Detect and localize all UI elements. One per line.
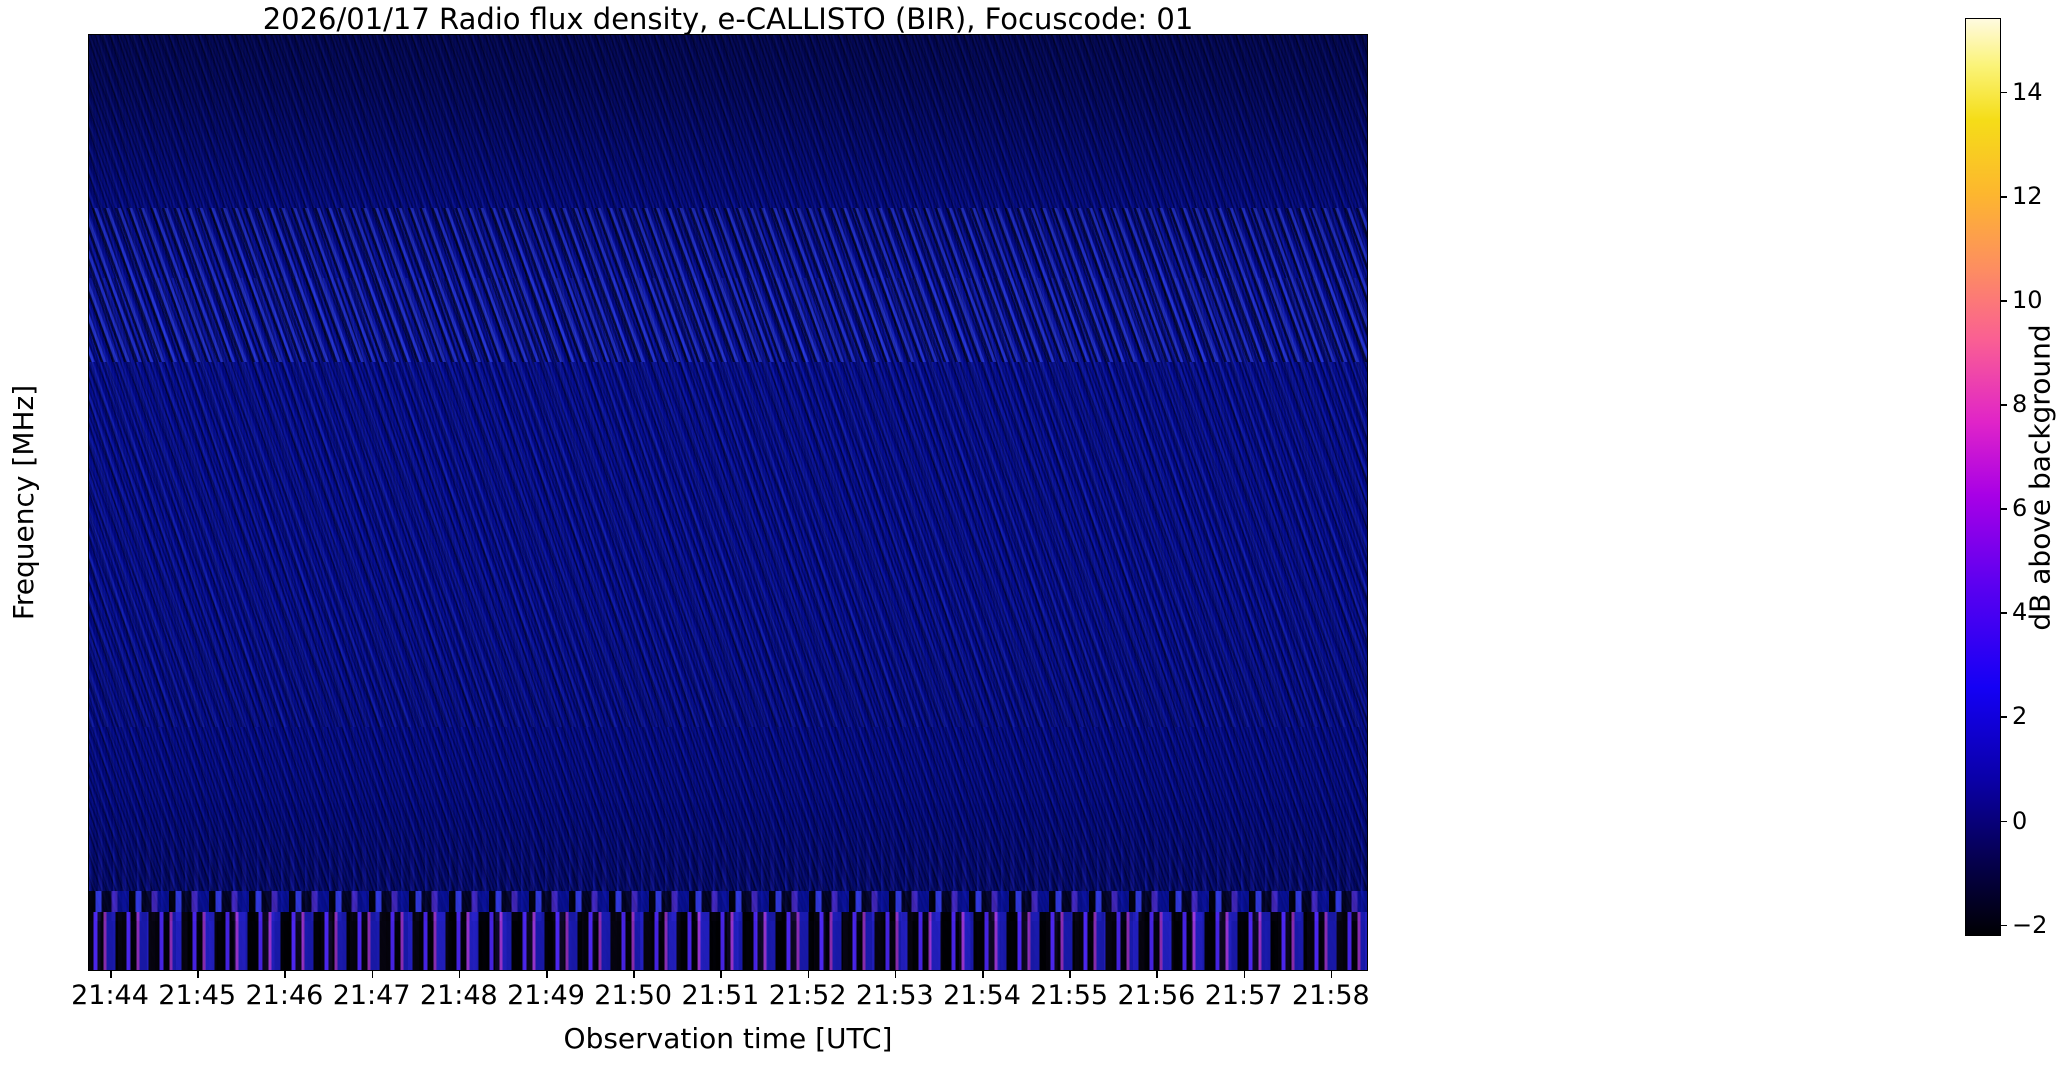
x-tick-label: 21:46 [245, 982, 323, 1009]
x-tick-label: 21:58 [1292, 982, 1370, 1009]
x-tick-mark [110, 971, 112, 978]
x-axis-ticks: 21:4421:4521:4621:4721:4821:4921:5021:51… [88, 971, 1368, 1017]
x-tick-mark [372, 971, 374, 978]
colorbar-label-text: dB above background [2024, 324, 2057, 630]
x-tick-mark [1244, 971, 1246, 978]
colorbar-tick-mark [2000, 508, 2007, 510]
heatmap-feature-low-frequency-rfi [89, 912, 1367, 970]
x-tick-mark [982, 971, 984, 978]
colorbar-tick-mark [2000, 612, 2007, 614]
x-tick-label: 21:52 [769, 982, 847, 1009]
x-tick-mark [197, 971, 199, 978]
colorbar-tick-mark [2000, 196, 2007, 198]
x-tick-mark [720, 971, 722, 978]
x-tick-mark [284, 971, 286, 978]
x-tick-mark [1331, 971, 1333, 978]
x-tick-mark [808, 971, 810, 978]
colorbar-tick-mark [2000, 716, 2007, 718]
x-tick-label: 21:50 [594, 982, 672, 1009]
x-tick-mark [895, 971, 897, 978]
x-tick-label: 21:51 [681, 982, 759, 1009]
x-tick-mark [546, 971, 548, 978]
x-tick-mark [1156, 971, 1158, 978]
x-tick-label: 21:44 [71, 982, 149, 1009]
chart-title: 2026/01/17 Radio flux density, e-CALLIST… [88, 2, 1368, 36]
y-axis-label-text: Frequency [MHz] [8, 385, 41, 620]
x-tick-label: 21:56 [1117, 982, 1195, 1009]
x-tick-mark [459, 971, 461, 978]
spectrogram-axes: 100 80 60 40 20 [88, 34, 1368, 971]
x-tick-label: 21:55 [1030, 982, 1108, 1009]
x-axis-label: Observation time [UTC] [88, 1022, 1368, 1055]
x-tick-label: 21:45 [158, 982, 236, 1009]
x-tick-mark [1069, 971, 1071, 978]
x-tick-label: 21:57 [1205, 982, 1283, 1009]
colorbar-label: dB above background [2022, 18, 2058, 936]
colorbar-tick-mark [2000, 300, 2007, 302]
colorbar-tick-mark [2000, 925, 2007, 927]
x-tick-label: 21:54 [943, 982, 1021, 1009]
colorbar-tick-mark [2000, 821, 2007, 823]
x-tick-label: 21:47 [333, 982, 411, 1009]
y-axis-label: Frequency [MHz] [6, 34, 42, 971]
x-tick-label: 21:48 [420, 982, 498, 1009]
colorbar-tick-mark [2000, 92, 2007, 94]
x-tick-label: 21:53 [856, 982, 934, 1009]
x-tick-label: 21:49 [507, 982, 585, 1009]
colorbar: −202468101214 [1965, 18, 2001, 936]
figure-canvas: 2026/01/17 Radio flux density, e-CALLIST… [0, 0, 2066, 1067]
x-tick-mark [633, 971, 635, 978]
colorbar-tick-mark [2000, 404, 2007, 406]
